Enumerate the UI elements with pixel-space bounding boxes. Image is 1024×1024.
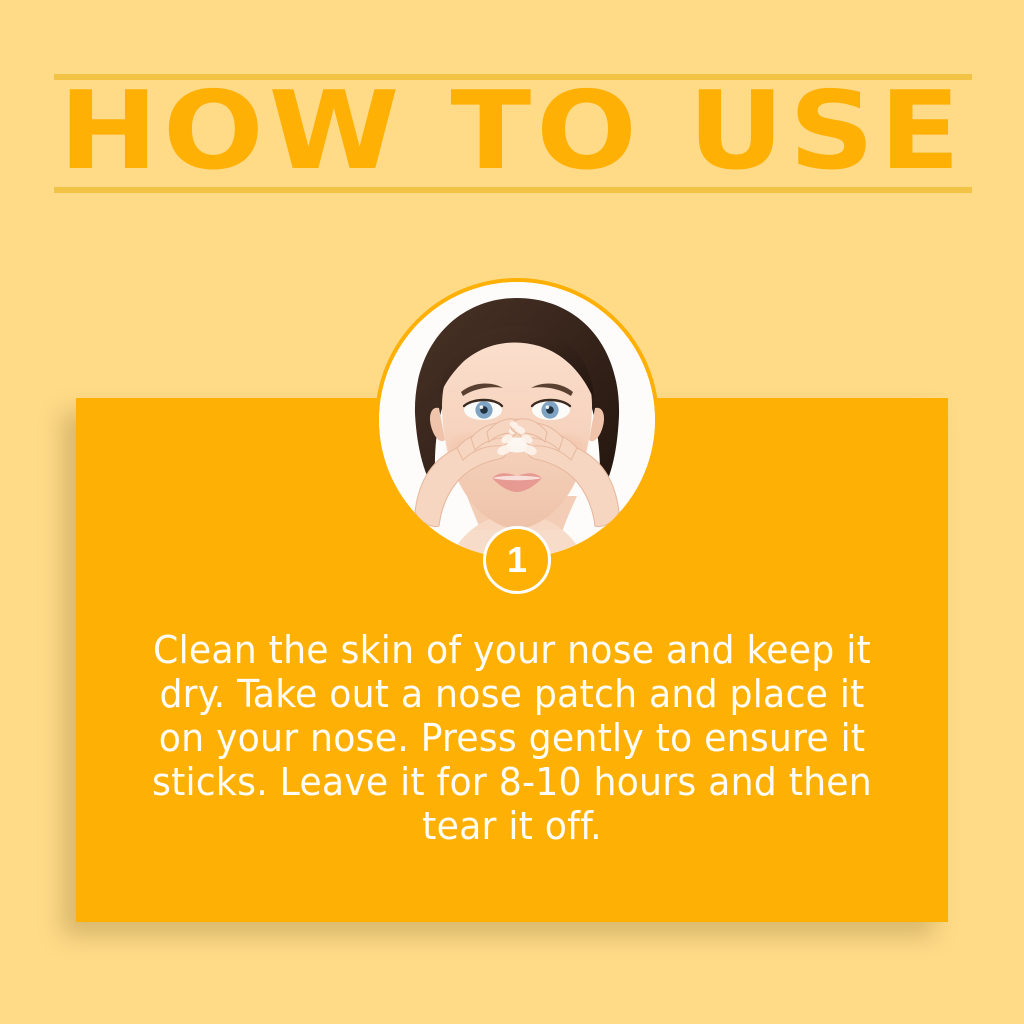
page-title: HOW TO USE	[0, 80, 1024, 184]
step-photo	[379, 282, 655, 558]
step-number-badge: 1	[483, 526, 551, 594]
title-divider-bottom	[54, 187, 972, 193]
poster-canvas: HOW TO USE	[0, 0, 1024, 1024]
step-description: Clean the skin of your nose and keep it …	[139, 628, 885, 848]
